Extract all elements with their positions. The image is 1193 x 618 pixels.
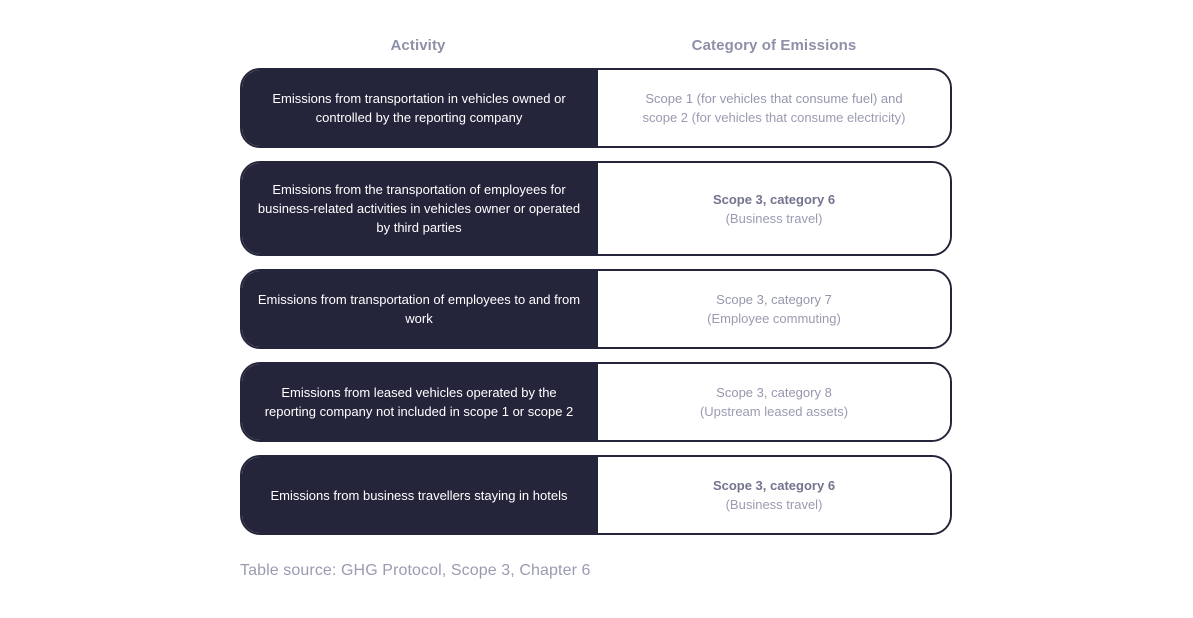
table-row: Emissions from business travellers stayi… [240, 455, 952, 535]
table-source-note: Table source: GHG Protocol, Scope 3, Cha… [240, 562, 591, 580]
category-sub-line: (Upstream leased assets) [700, 402, 848, 421]
table-row: Emissions from transportation in vehicle… [240, 68, 952, 148]
cell-category: Scope 3, category 7 (Employee commuting) [598, 271, 950, 347]
table-row: Emissions from transportation of employe… [240, 269, 952, 349]
cell-activity: Emissions from leased vehicles operated … [242, 364, 598, 440]
cell-activity: Emissions from transportation in vehicle… [242, 70, 598, 146]
category-sub-line: (Business travel) [726, 495, 823, 514]
column-header-activity: Activity [240, 37, 596, 54]
cell-category: Scope 1 (for vehicles that consume fuel)… [598, 70, 950, 146]
table-header-row: Activity Category of Emissions [240, 22, 952, 68]
cell-category: Scope 3, category 8 (Upstream leased ass… [598, 364, 950, 440]
category-main-line: Scope 1 (for vehicles that consume fuel)… [645, 89, 902, 108]
category-main-line: Scope 3, category 6 [713, 476, 835, 495]
category-sub-line: scope 2 (for vehicles that consume elect… [643, 108, 906, 127]
category-sub-line: (Employee commuting) [707, 309, 841, 328]
cell-activity: Emissions from business travellers stayi… [242, 457, 598, 533]
category-main-line: Scope 3, category 6 [713, 190, 835, 209]
table-row: Emissions from the transportation of emp… [240, 161, 952, 256]
cell-category: Scope 3, category 6 (Business travel) [598, 163, 950, 254]
cell-category: Scope 3, category 6 (Business travel) [598, 457, 950, 533]
page-root: Activity Category of Emissions Emissions… [0, 0, 1193, 618]
category-sub-line: (Business travel) [726, 209, 823, 228]
cell-activity: Emissions from transportation of employe… [242, 271, 598, 347]
category-main-line: Scope 3, category 8 [716, 383, 832, 402]
column-header-category: Category of Emissions [596, 37, 952, 54]
emissions-table: Activity Category of Emissions Emissions… [240, 22, 952, 548]
category-main-line: Scope 3, category 7 [716, 290, 832, 309]
cell-activity: Emissions from the transportation of emp… [242, 163, 598, 254]
table-row: Emissions from leased vehicles operated … [240, 362, 952, 442]
